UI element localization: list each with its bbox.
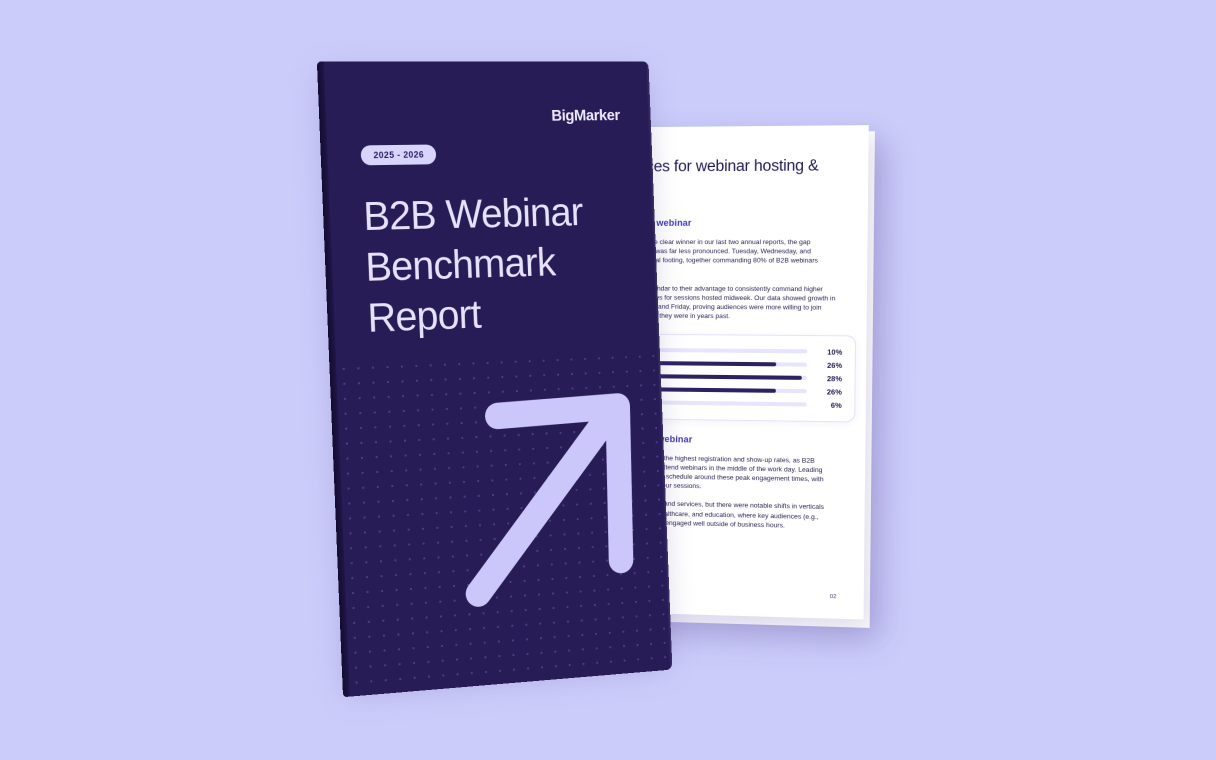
cover-title-line-1: B2B Webinar	[362, 186, 624, 242]
cover-title-line-3: Report	[367, 285, 629, 344]
bar-value-label: 10%	[807, 347, 842, 357]
year-badge: 2025 - 2026	[360, 144, 436, 165]
report-front-cover: BigMarker 2025 - 2026 B2B Webinar Benchm…	[330, 62, 682, 698]
bigmarker-logo: BigMarker	[551, 108, 620, 126]
bar-value-label: 28%	[807, 373, 842, 383]
bar-value-label: 26%	[807, 360, 842, 370]
cover-title-line-2: Benchmark	[364, 236, 626, 293]
bar-value-label: 26%	[807, 387, 842, 397]
cover-face: BigMarker 2025 - 2026 B2B Webinar Benchm…	[324, 61, 673, 696]
mockup-stage: Best practices for webinar hosting & fre…	[0, 0, 1216, 760]
cover-body: BigMarker 2025 - 2026 B2B Webinar Benchm…	[317, 61, 672, 697]
bar-value-label: 6%	[807, 400, 842, 410]
cover-title: B2B Webinar Benchmark Report	[362, 186, 628, 343]
up-right-arrow-icon	[453, 378, 656, 612]
footer-page-number: 02	[830, 594, 837, 600]
